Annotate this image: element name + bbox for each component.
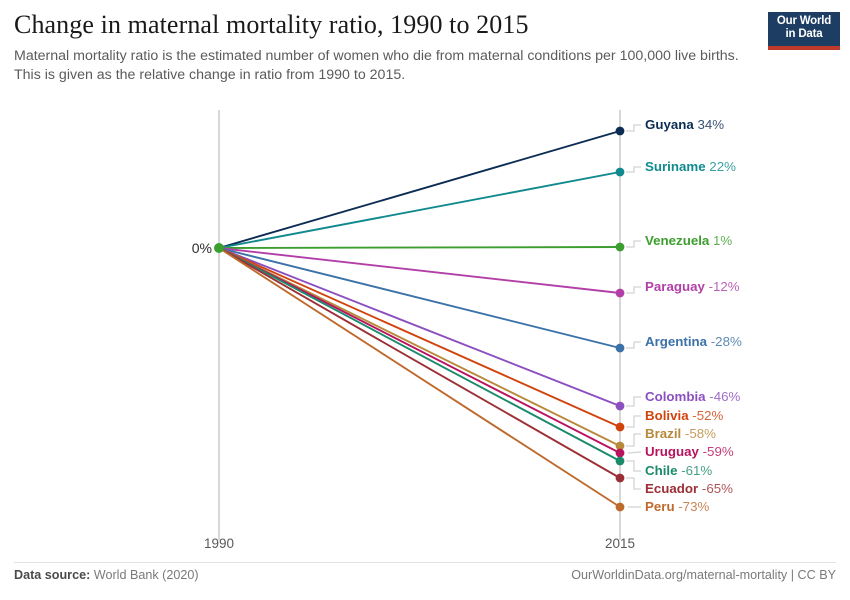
label-connector [626, 478, 641, 489]
series-value: -59% [699, 444, 734, 459]
x-tick-label-1990: 1990 [179, 536, 259, 551]
series-value: 1% [709, 233, 732, 248]
end-dot-paraguay[interactable] [616, 289, 625, 298]
origin-dot[interactable] [214, 243, 224, 253]
slope-line-brazil [219, 248, 620, 446]
connector-elbow [626, 167, 641, 172]
connector-elbow [626, 125, 641, 131]
series-value: -58% [681, 426, 716, 441]
slope-line-bolivia [219, 248, 620, 427]
label-connector [628, 452, 641, 453]
series-value: -28% [707, 334, 742, 349]
series-label-ecuador[interactable]: Ecuador -65% [645, 481, 733, 497]
chart-subtitle: Maternal mortality ratio is the estimate… [14, 47, 744, 85]
series-value: -73% [675, 499, 710, 514]
series-name: Venezuela [645, 233, 709, 248]
connector-elbow [626, 342, 641, 348]
end-dot-argentina[interactable] [616, 344, 625, 353]
series-value: -52% [689, 408, 724, 423]
series-name: Brazil [645, 426, 681, 441]
series-label-colombia[interactable]: Colombia -46% [645, 389, 740, 405]
end-dot-colombia[interactable] [616, 402, 625, 411]
connector-elbow [626, 478, 641, 489]
end-dot-bolivia[interactable] [616, 423, 625, 432]
zero-axis-label: 0% [186, 240, 212, 256]
series-name: Guyana [645, 117, 694, 132]
series-label-suriname[interactable]: Suriname 22% [645, 159, 736, 175]
slope-line-argentina [219, 248, 620, 348]
slope-line-guyana [219, 131, 620, 248]
series-label-argentina[interactable]: Argentina -28% [645, 334, 742, 350]
series-label-venezuela[interactable]: Venezuela 1% [645, 233, 732, 249]
series-name: Chile [645, 463, 678, 478]
slope-line-paraguay [219, 248, 620, 293]
slope-line-chile [219, 248, 620, 461]
label-connector [626, 125, 641, 131]
slope-line-colombia [219, 248, 620, 406]
series-label-guyana[interactable]: Guyana 34% [645, 117, 724, 133]
label-connector [626, 167, 641, 172]
slope-chart-plot [0, 0, 850, 600]
label-connector [626, 434, 641, 446]
series-name: Suriname [645, 159, 706, 174]
series-value: -65% [698, 481, 733, 496]
end-dot-peru[interactable] [616, 503, 625, 512]
series-label-peru[interactable]: Peru -73% [645, 499, 709, 515]
end-dot-chile[interactable] [616, 457, 625, 466]
end-dot-ecuador[interactable] [616, 474, 625, 483]
label-connector [626, 461, 641, 471]
x-tick-label-2015: 2015 [580, 536, 660, 551]
end-dot-brazil[interactable] [616, 442, 625, 451]
series-name: Uruguay [645, 444, 699, 459]
series-label-brazil[interactable]: Brazil -58% [645, 426, 716, 442]
slope-line-suriname [219, 172, 620, 248]
series-label-uruguay[interactable]: Uruguay -59% [645, 444, 734, 460]
series-label-paraguay[interactable]: Paraguay -12% [645, 279, 740, 295]
series-name: Paraguay [645, 279, 705, 294]
series-value: -46% [706, 389, 741, 404]
label-connector [626, 342, 641, 348]
chart-header: Change in maternal mortality ratio, 1990… [14, 8, 754, 85]
label-connector [626, 416, 641, 427]
connector-elbow [626, 287, 641, 293]
connector-elbow [626, 434, 641, 446]
end-dot-guyana[interactable] [616, 127, 625, 136]
series-label-bolivia[interactable]: Bolivia -52% [645, 408, 723, 424]
slope-chart-svg [0, 0, 850, 600]
series-label-chile[interactable]: Chile -61% [645, 463, 712, 479]
series-name: Argentina [645, 334, 707, 349]
series-name: Bolivia [645, 408, 689, 423]
connector-elbow [626, 416, 641, 427]
series-name: Colombia [645, 389, 706, 404]
end-dot-suriname[interactable] [616, 168, 625, 177]
connector-elbow [626, 397, 641, 406]
series-value: -12% [705, 279, 740, 294]
logo-line-2: in Data [768, 28, 840, 41]
end-dot-uruguay[interactable] [616, 449, 625, 458]
slope-line-venezuela [219, 247, 620, 248]
label-connector [626, 241, 641, 247]
end-dot-venezuela[interactable] [616, 243, 625, 252]
page-title: Change in maternal mortality ratio, 1990… [14, 8, 754, 42]
slope-line-uruguay [219, 248, 620, 453]
slope-line-ecuador [219, 248, 620, 478]
connector-elbow [626, 461, 641, 471]
series-name: Ecuador [645, 481, 698, 496]
slope-line-peru [219, 248, 620, 507]
label-connector [626, 287, 641, 293]
series-value: 22% [706, 159, 736, 174]
logo-line-1: Our World [768, 15, 840, 28]
series-value: 34% [694, 117, 724, 132]
data-source: Data source: World Bank (2020) [14, 568, 199, 582]
connector-elbow [626, 241, 641, 247]
series-name: Peru [645, 499, 675, 514]
chart-page: Change in maternal mortality ratio, 1990… [0, 0, 850, 600]
data-source-value: World Bank (2020) [94, 568, 199, 582]
series-value: -61% [678, 463, 713, 478]
our-world-in-data-logo[interactable]: Our World in Data [768, 12, 840, 50]
footer-divider [14, 562, 836, 563]
attribution-link[interactable]: OurWorldinData.org/maternal-mortality | … [571, 568, 836, 582]
data-source-label: Data source: [14, 568, 90, 582]
label-connector [626, 397, 641, 406]
connector-straight [628, 452, 641, 453]
